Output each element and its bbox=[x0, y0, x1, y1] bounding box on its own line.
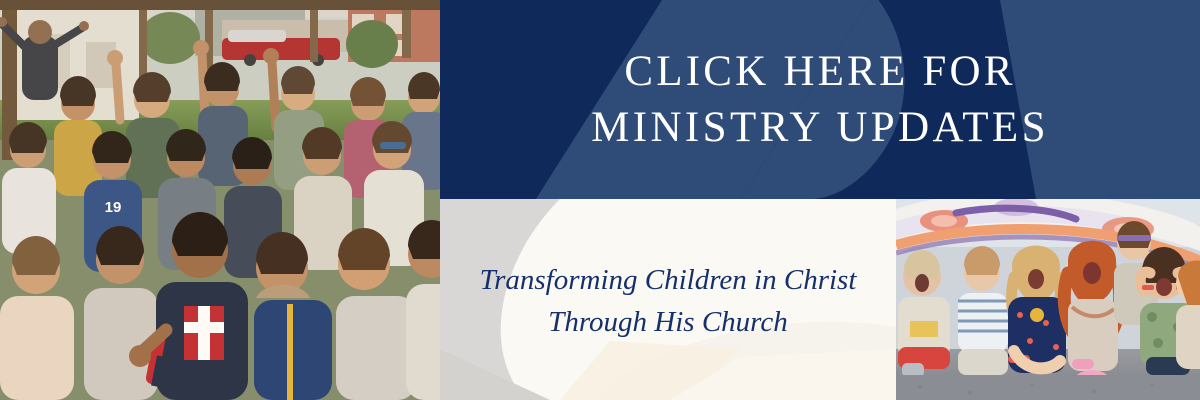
cta-text-block: CLICK HERE FOR MINISTRY UPDATES bbox=[440, 0, 1200, 199]
group-photo-illustration: 19 bbox=[0, 0, 440, 400]
tagline-panel: Transforming Children in Christ Through … bbox=[440, 199, 896, 400]
group-photo-children-outdoors: 19 bbox=[0, 0, 440, 400]
cta-line-2: MINISTRY UPDATES bbox=[591, 100, 1049, 155]
parachute-photo-illustration bbox=[896, 199, 1200, 400]
children-under-parachute-photo bbox=[896, 199, 1200, 400]
tagline-line-2: Through His Church bbox=[548, 302, 788, 343]
tagline-text-block: Transforming Children in Christ Through … bbox=[440, 199, 896, 400]
ministry-promo-banner: 19 bbox=[0, 0, 1200, 400]
ministry-updates-cta[interactable]: CLICK HERE FOR MINISTRY UPDATES bbox=[440, 0, 1200, 199]
cta-line-1: CLICK HERE FOR bbox=[624, 44, 1015, 99]
tagline-line-1: Transforming Children in Christ bbox=[480, 260, 857, 301]
